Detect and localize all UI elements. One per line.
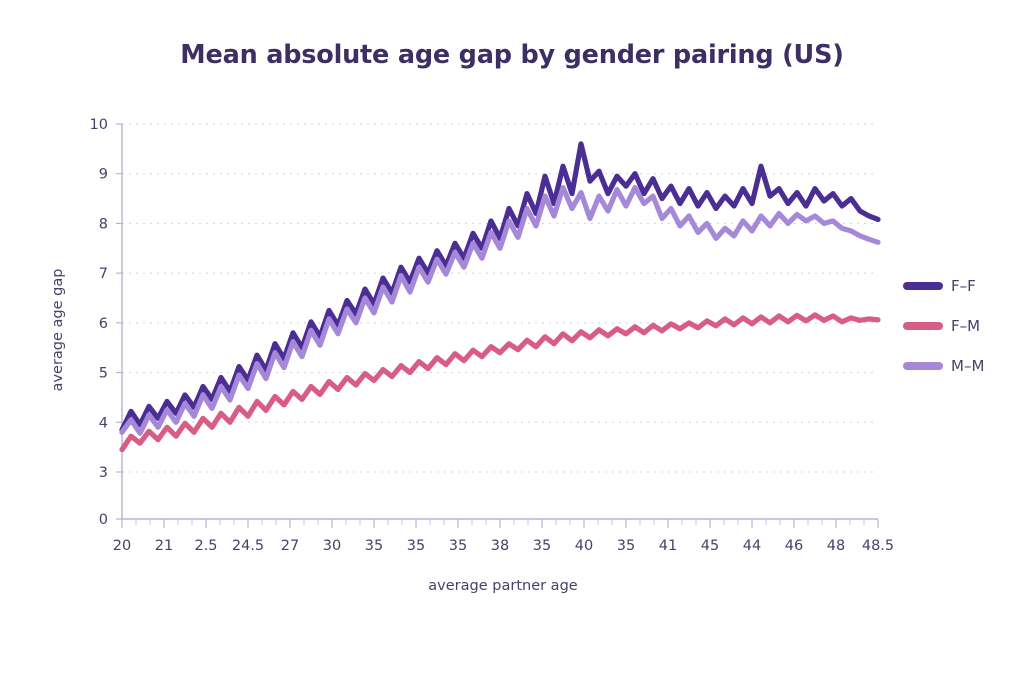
x-axis-tick-label: 45 (701, 538, 719, 554)
y-axis-tick-label: 4 (99, 415, 108, 431)
legend-label-fm[interactable]: F–M (951, 317, 980, 335)
x-axis-tick-label: 48 (827, 538, 845, 554)
y-axis-tick-label: 5 (99, 366, 108, 382)
x-axis-tick-label: 35 (617, 538, 635, 554)
y-axis-tick-label: 9 (99, 167, 108, 183)
x-axis-tick-label: 35 (533, 538, 551, 554)
y-axis-tick-label: 6 (99, 316, 108, 332)
x-axis: 20212.524.527303535353835403541454446484… (113, 519, 894, 554)
x-axis-tick-label: 2.5 (194, 538, 217, 554)
y-axis-tick-label: 0 (99, 512, 108, 528)
x-axis-tick-label: 35 (365, 538, 383, 554)
x-axis-tick-label: 35 (407, 538, 425, 554)
y-axis: 0345678910 (90, 117, 122, 528)
series-group (122, 144, 878, 450)
x-axis-tick-label: 48.5 (862, 538, 894, 554)
line-chart-plot: 0345678910 20212.524.5273035353538354035… (0, 0, 1024, 683)
x-axis-tick-label: 41 (659, 538, 677, 554)
x-axis-tick-label: 21 (155, 538, 173, 554)
chart-container: Mean absolute age gap by gender pairing … (0, 0, 1024, 683)
x-axis-tick-label: 40 (575, 538, 593, 554)
legend: F–FF–MM–M (907, 277, 984, 375)
x-axis-tick-label: 24.5 (232, 538, 264, 554)
legend-label-ff[interactable]: F–F (951, 277, 976, 295)
y-axis-title: average age gap (50, 269, 66, 392)
y-axis-tick-label: 3 (99, 465, 108, 481)
chart-title: Mean absolute age gap by gender pairing … (0, 40, 1024, 70)
x-axis-tick-label: 35 (449, 538, 467, 554)
x-axis-tick-label: 27 (281, 538, 299, 554)
x-axis-tick-label: 46 (785, 538, 803, 554)
x-axis-tick-label: 38 (491, 538, 509, 554)
x-axis-tick-label: 20 (113, 538, 131, 554)
y-axis-tick-label: 7 (99, 266, 108, 282)
y-axis-tick-label: 10 (90, 117, 108, 133)
x-axis-tick-label: 30 (323, 538, 341, 554)
legend-label-mm[interactable]: M–M (951, 357, 984, 375)
x-axis-title: average partner age (428, 578, 577, 594)
y-axis-tick-label: 8 (99, 216, 108, 232)
series-line-m-m (122, 188, 878, 434)
x-axis-tick-label: 44 (743, 538, 761, 554)
